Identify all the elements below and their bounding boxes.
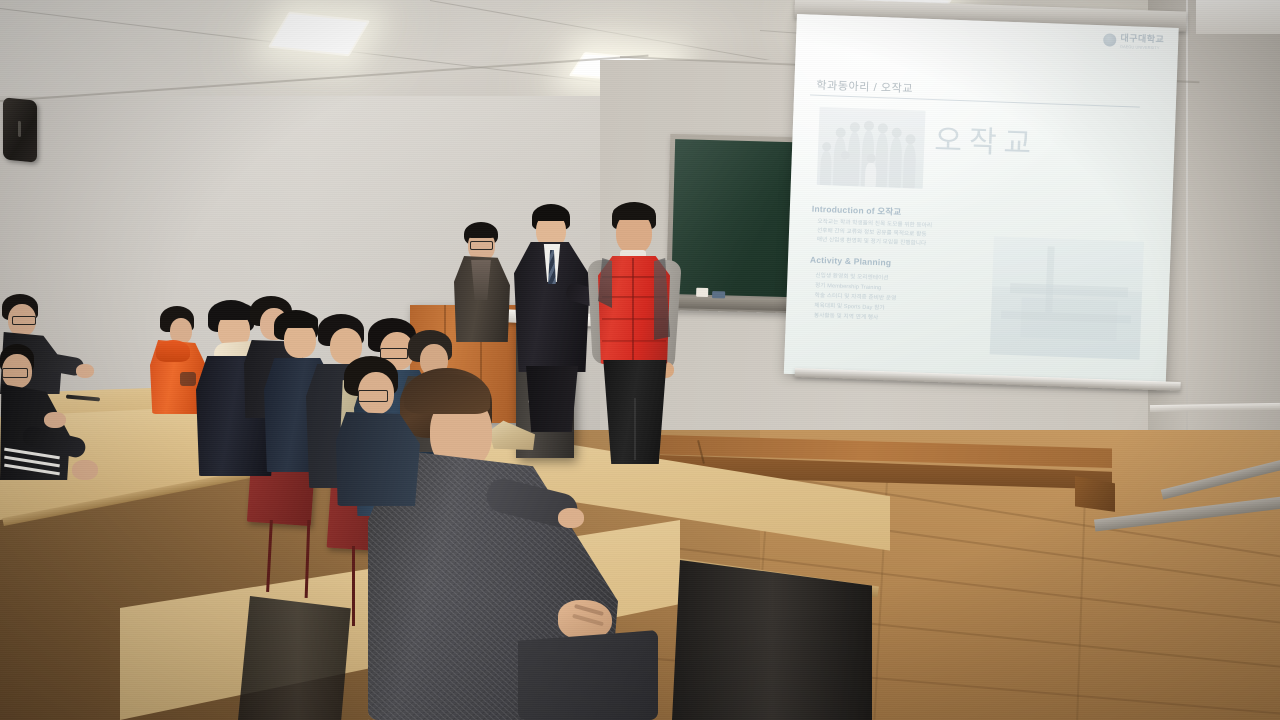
glasses-icon <box>2 368 28 378</box>
table-pedestal <box>238 596 358 720</box>
hand <box>558 508 584 528</box>
logo-sublabel: DAEGU UNIVERSITY <box>1120 44 1164 51</box>
eraser <box>712 291 725 298</box>
glasses-icon <box>12 316 36 325</box>
university-logo: 대구대학교 DAEGU UNIVERSITY <box>1103 30 1165 50</box>
presenter-glasses-dark-jacket <box>452 222 522 342</box>
classroom-photo: 대구대학교 DAEGU UNIVERSITY 학과동아리 / 오작교 <box>0 0 1280 720</box>
window <box>1196 0 1280 34</box>
slide-group-photo <box>817 107 926 189</box>
logo-emblem-icon <box>1103 33 1116 46</box>
slide-headline: 오작교 <box>934 115 1039 163</box>
slide-bullet: 체육대회 및 Sports Day 참가 <box>814 301 885 312</box>
chalk <box>696 288 708 297</box>
table-pedestal <box>672 560 872 720</box>
projection-screen: 대구대학교 DAEGU UNIVERSITY 학과동아리 / 오작교 <box>784 14 1179 388</box>
slide-bullet: 신입생 환영회 및 오리엔테이션 <box>815 271 888 282</box>
slide-bullet: 정기 Membership Training <box>815 281 882 291</box>
slide-bullet: 학술 스터디 및 자격증 준비반 운영 <box>815 291 897 302</box>
glasses-icon <box>358 390 388 402</box>
slide-section-heading: Activity & Planning <box>810 255 892 268</box>
student-glasses-front-left <box>336 356 426 506</box>
glasses-icon <box>470 241 493 250</box>
slide-bullet: 봉사활동 및 지역 연계 행사 <box>814 311 879 321</box>
wall-speaker <box>3 97 37 163</box>
slide-activity-photo <box>990 236 1144 359</box>
student-black-track-jacket <box>0 336 110 486</box>
